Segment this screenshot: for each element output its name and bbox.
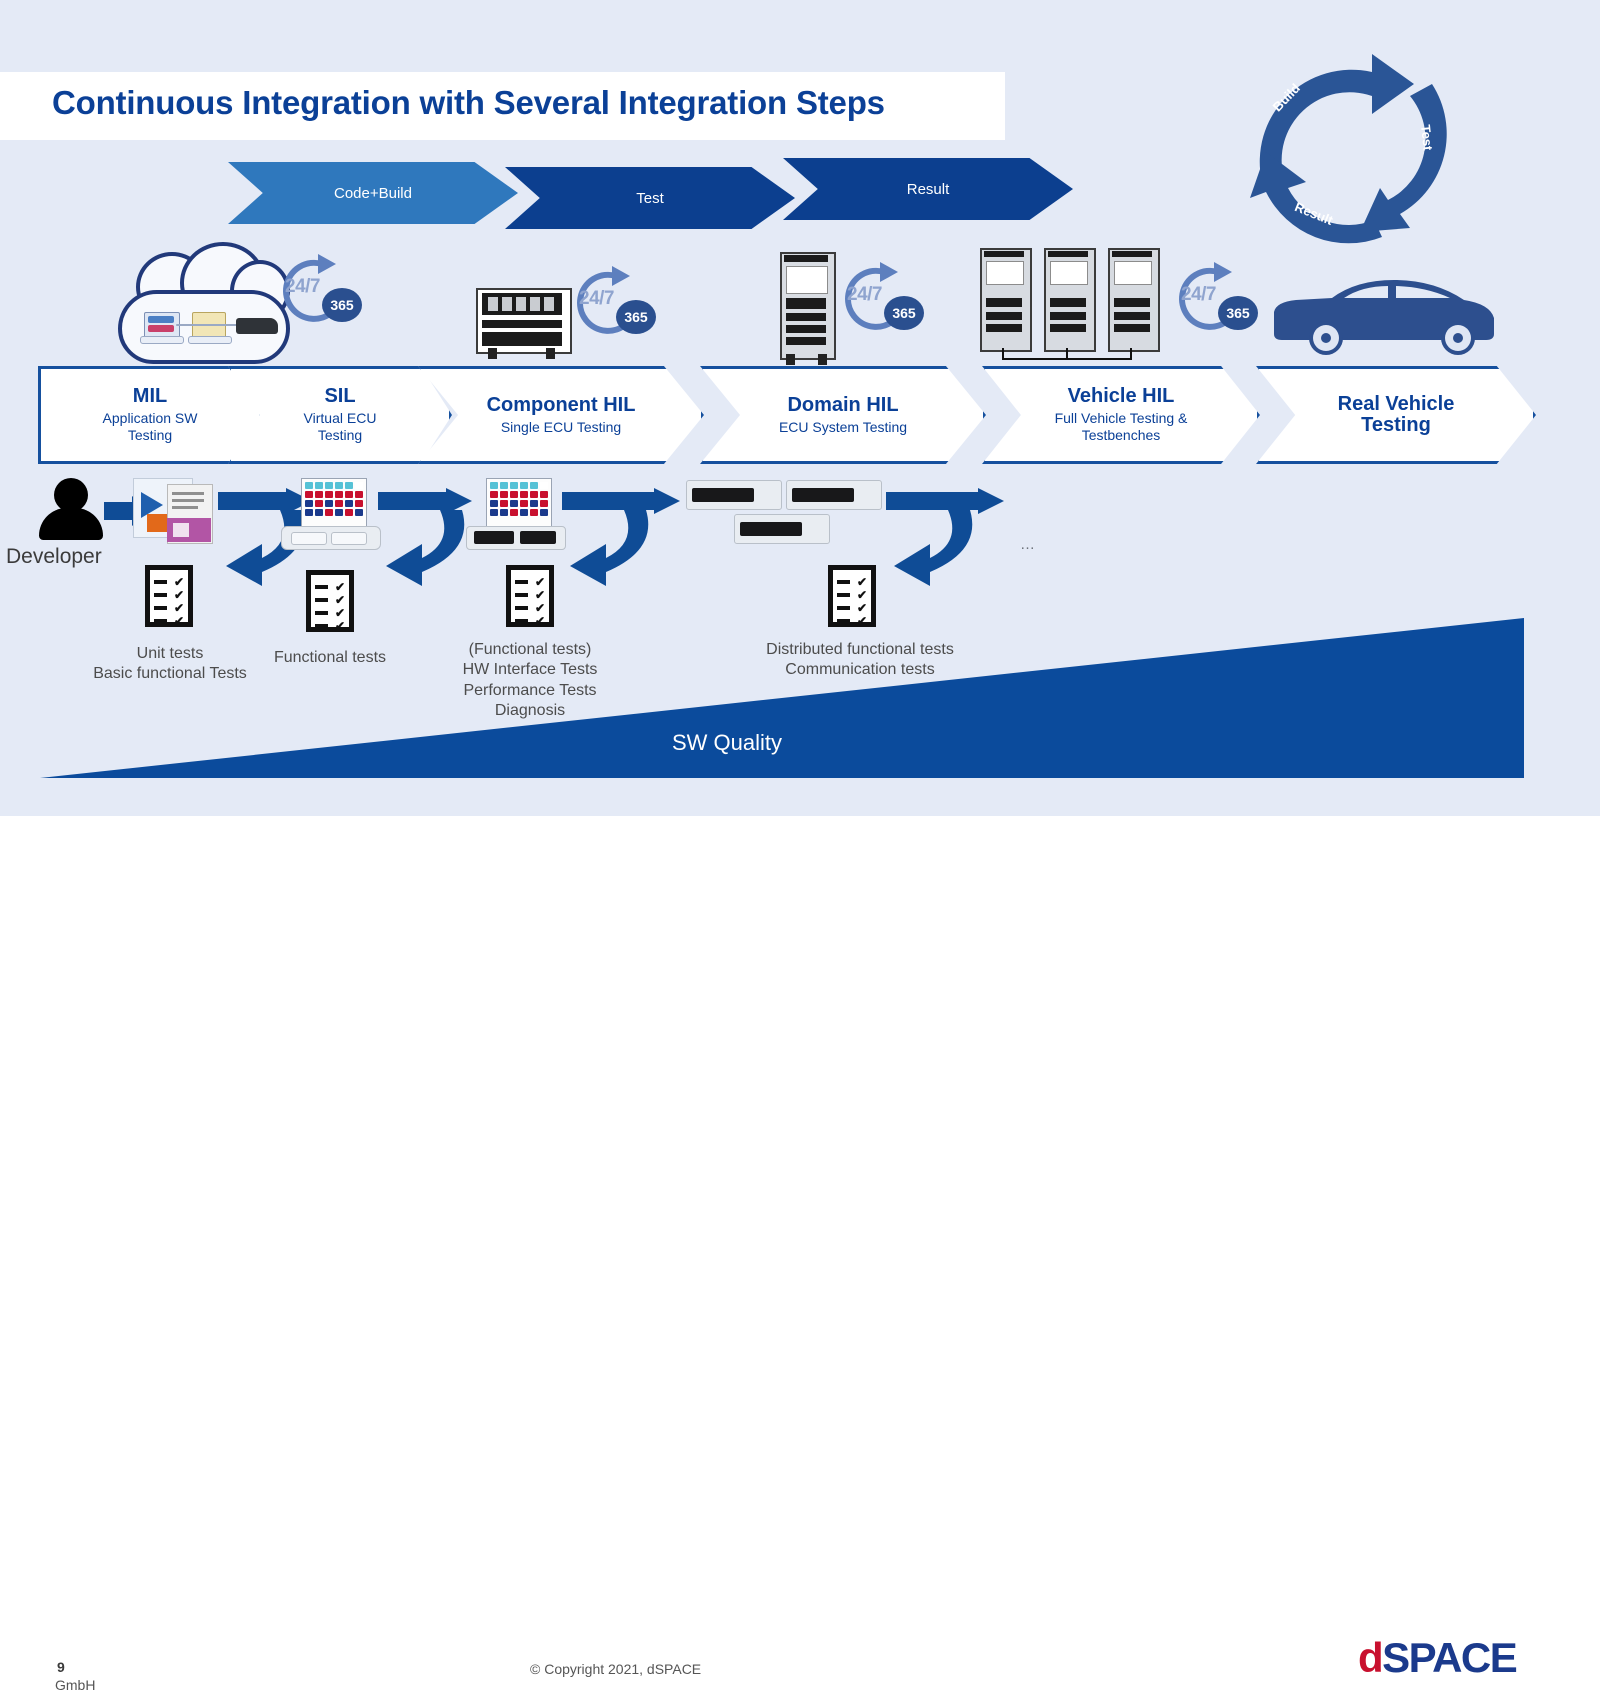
- stage-chevron-component-hil[interactable]: Component HIL Single ECU Testing: [418, 366, 704, 464]
- stage-subtitle-line2: Testing: [318, 427, 362, 444]
- stage-subtitle-line1: Single ECU Testing: [501, 419, 621, 436]
- flow-loop-3: [562, 482, 692, 592]
- uptime-primary: 24/7: [285, 276, 320, 298]
- vehicle-silhouette-icon: [1270, 278, 1498, 356]
- stage-chevron-domain-hil[interactable]: Domain HIL ECU System Testing: [700, 366, 986, 464]
- dspace-logo: dSPACE: [1358, 1634, 1516, 1682]
- phase-chevron-label: Result: [907, 181, 950, 198]
- phase-chevron-test[interactable]: Test: [505, 167, 795, 229]
- uptime-secondary: 365: [322, 288, 362, 322]
- uptime-secondary: 365: [884, 296, 924, 330]
- developer-icon: [36, 478, 106, 540]
- stage-subtitle-line1: Testing: [1361, 415, 1431, 436]
- stage-chevron-real-vehicle[interactable]: Real Vehicle Testing: [1256, 366, 1536, 464]
- stage-title: Real Vehicle: [1338, 394, 1455, 415]
- virtual-ecu-icon: [281, 478, 381, 548]
- page-number: 9: [57, 1659, 65, 1675]
- uptime-badge-3: 24/7 365: [834, 258, 922, 334]
- flow-loop-4: [886, 482, 1016, 592]
- loop-arrow-icon: [886, 482, 1016, 592]
- copyright-text: © Copyright 2021, dSPACE: [530, 1661, 701, 1677]
- cycle-label-test: Test: [1418, 124, 1436, 151]
- uptime-secondary: 365: [1218, 296, 1258, 330]
- stage-title: MIL: [133, 386, 167, 407]
- stage-title: SIL: [324, 386, 355, 407]
- phase-chevron-label: Test: [636, 190, 664, 207]
- phase-chevron-result[interactable]: Result: [783, 158, 1073, 220]
- uptime-primary: 24/7: [847, 284, 882, 306]
- stage-subtitle-line1: ECU System Testing: [779, 419, 907, 436]
- car-icon: [1270, 278, 1498, 356]
- domain-hil-rack-icon: [780, 252, 832, 362]
- uptime-badge-2: 24/7 365: [566, 262, 654, 338]
- stage-title: Component HIL: [487, 395, 636, 416]
- phase-chevron-label: Code+Build: [334, 185, 412, 202]
- stage-chevron-vehicle-hil[interactable]: Vehicle HIL Full Vehicle Testing & Testb…: [982, 366, 1260, 464]
- stage-subtitle-line2: Testbenches: [1082, 427, 1161, 444]
- cloud-icon: [118, 268, 290, 360]
- stage-chevron-sil[interactable]: SIL Virtual ECU Testing: [228, 366, 452, 464]
- model-code-icon: [133, 478, 227, 544]
- logo-d: d: [1358, 1634, 1382, 1681]
- stage-title: Domain HIL: [787, 395, 898, 416]
- loop-arrow-icon: [562, 482, 692, 592]
- page-title: Continuous Integration with Several Inte…: [52, 84, 992, 122]
- phase-chevron-code-build[interactable]: Code+Build: [228, 162, 518, 224]
- logo-spaces: SPACE: [1382, 1634, 1516, 1681]
- stage-subtitle-line1: Virtual ECU: [304, 410, 377, 427]
- footer: 9 GmbH © Copyright 2021, dSPACE dSPACE: [0, 816, 1600, 900]
- stage-title: Vehicle HIL: [1068, 386, 1175, 407]
- uptime-secondary: 365: [616, 300, 656, 334]
- sw-quality-label: SW Quality: [672, 730, 782, 756]
- uptime-primary: 24/7: [579, 288, 614, 310]
- vehicle-hil-racks-icon: [980, 248, 1170, 362]
- component-hil-rack-icon: [476, 288, 568, 360]
- uptime-badge-4: 24/7 365: [1168, 258, 1256, 334]
- stage-subtitle-line1: Application SW: [103, 410, 198, 427]
- stage-subtitle-line2: Testing: [128, 427, 172, 444]
- continuation-ellipsis: …: [1020, 536, 1037, 553]
- slide-canvas: Continuous Integration with Several Inte…: [0, 0, 1600, 816]
- stage-subtitle-line1: Full Vehicle Testing &: [1055, 410, 1188, 427]
- uptime-badge-1: 24/7 365: [272, 250, 360, 326]
- ci-cycle-diagram: Build Test Result: [1232, 32, 1470, 244]
- developer-label: Developer: [6, 545, 102, 569]
- stage-chevron-mil[interactable]: MIL Application SW Testing: [38, 366, 262, 464]
- uptime-primary: 24/7: [1181, 284, 1216, 306]
- component-hil-ecu-icon: [466, 478, 566, 548]
- ecu-cluster-icon: [686, 480, 882, 546]
- page-subtext: GmbH: [55, 1677, 95, 1693]
